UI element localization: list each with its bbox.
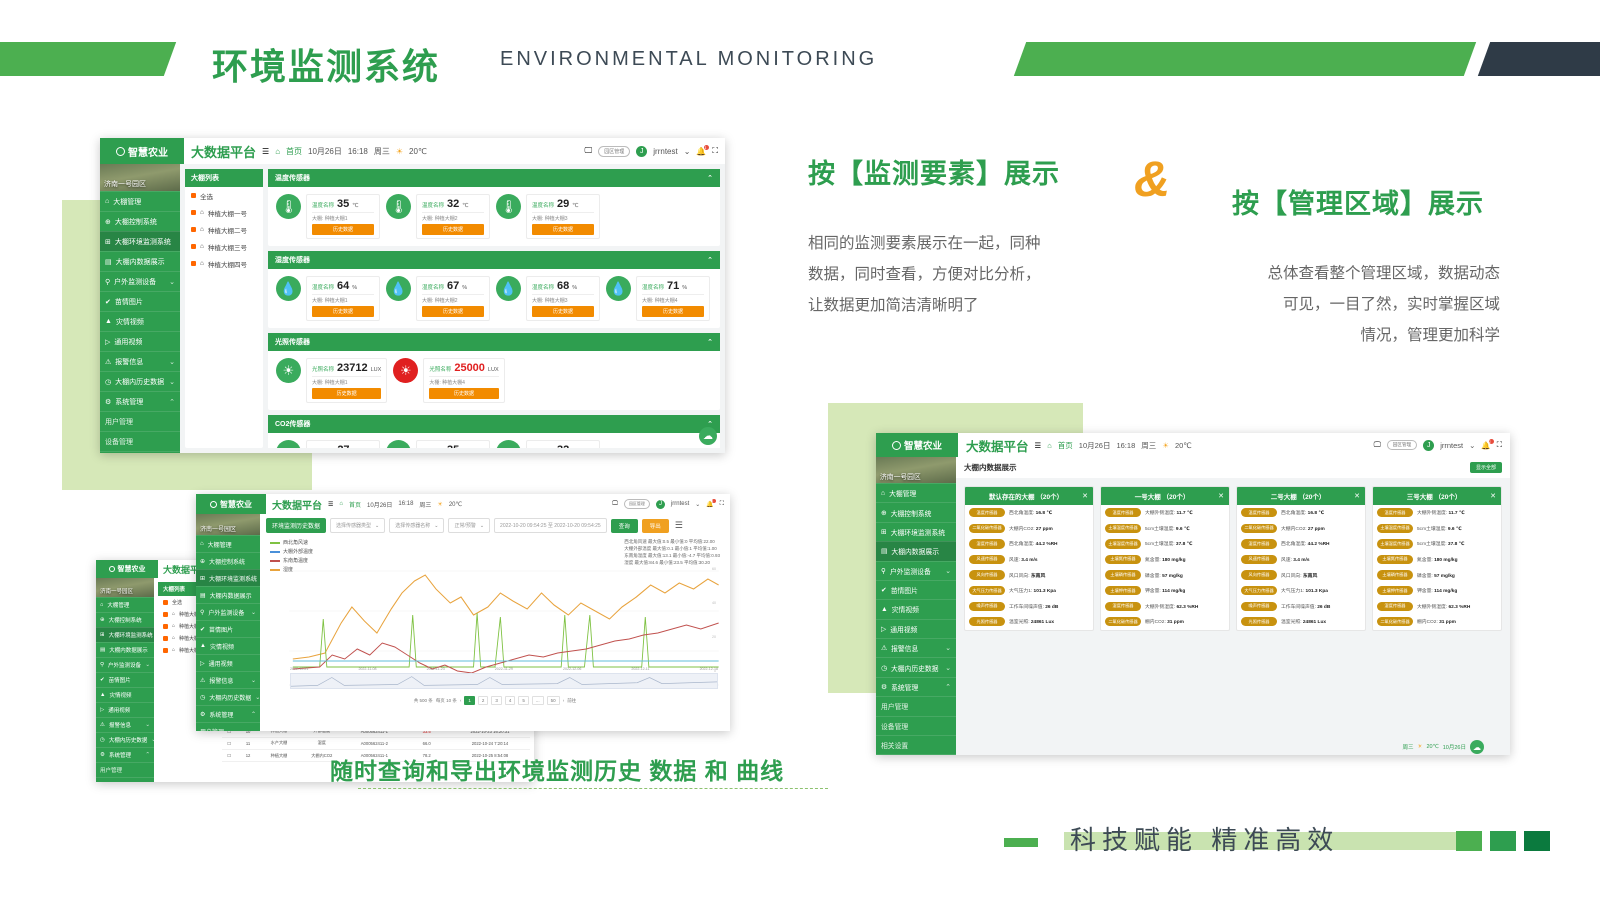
- zone-photo[interactable]: 济南一号园区: [100, 164, 180, 191]
- marketing-body-line: 数据，同时查看，方便对比分析，: [808, 259, 1138, 290]
- chevron-up-icon[interactable]: ⌃: [169, 398, 175, 406]
- monitor-icon[interactable]: 🖵: [1374, 440, 1381, 450]
- sidebar-item-10[interactable]: ⚙系统管理⌃: [100, 391, 180, 411]
- sensor-reading: 磷含量: 57 mg/kg: [1145, 572, 1183, 579]
- sensor-card[interactable]: 💧湿度名称67%大棚: 种植大棚2历史数据: [386, 276, 490, 321]
- fullscreen-icon[interactable]: ⛶: [1497, 440, 1502, 450]
- greenhouse-item[interactable]: ⌂种植大棚三号: [185, 238, 263, 255]
- sidebar-item-label: 大棚控制系统: [891, 508, 932, 518]
- chevron-down-icon[interactable]: ⌄: [945, 644, 951, 652]
- sensor-type-tag: 温度传感器: [1241, 508, 1277, 517]
- sidebar-item-14[interactable]: 系统日志: [876, 754, 956, 755]
- sensor-name: 湿度名称: [642, 283, 664, 291]
- sensor-type-tag: 土壤钾传感器: [1105, 586, 1141, 595]
- home-icon[interactable]: ⌂: [339, 501, 343, 507]
- sidebar-item-label: 设备管理: [100, 781, 122, 782]
- sensor-section: 光照传感器⌃☀光照名称23712LUX大棚: 种植大棚1历史数据☀光照名称250…: [268, 333, 720, 410]
- area-card-row: 二氧化碳传感器棚内CO2: 31 ppm: [1101, 614, 1229, 630]
- footer-square-2: [1490, 831, 1516, 851]
- history-data-button[interactable]: 历史数据: [312, 388, 381, 399]
- area-card-row: 二氧化碳传感器大棚内CO2: 27 ppm: [965, 521, 1093, 537]
- home-icon[interactable]: ⌂: [1047, 441, 1052, 450]
- sidebar-item-5[interactable]: ✔苗情图片: [196, 620, 260, 637]
- area-card-row: 温度传感器大棚外侧温度: 11.7 ℃: [1101, 505, 1229, 521]
- sensor-type-tag: 土壤湿度传感器: [1377, 539, 1413, 548]
- chart-brush[interactable]: [290, 673, 718, 689]
- sensor-type-tag: 光照传感器: [1241, 617, 1277, 626]
- sensor-card-info: 温度名称35℃大棚: 种植大棚1历史数据: [306, 194, 380, 239]
- sidebar-item-7[interactable]: ▷通用视频: [876, 619, 956, 638]
- house-icon: ⌂: [200, 226, 204, 233]
- pager-page[interactable]: 4: [505, 696, 516, 705]
- pager-page[interactable]: 1: [464, 696, 475, 705]
- control-icon: ⊕: [200, 558, 205, 565]
- sensor-card[interactable]: ◎浓度名称35ppm大棚: 种植大棚4历史数据: [386, 440, 490, 448]
- greenhouse-item[interactable]: ⌂种植大棚四号: [185, 255, 263, 272]
- sensor-card[interactable]: 🌡温度名称32℃大棚: 种植大棚2历史数据: [386, 194, 490, 239]
- monitor-icon[interactable]: 🖵: [612, 501, 618, 508]
- row-checkbox[interactable]: ☐: [222, 750, 236, 762]
- area-card-title: 三号大棚 （20个）: [1378, 491, 1490, 501]
- close-icon[interactable]: ✕: [1490, 492, 1496, 500]
- pager-next-icon[interactable]: ›: [563, 698, 565, 703]
- pager-page[interactable]: 50: [547, 696, 560, 705]
- y-tick-label: 40: [712, 601, 716, 605]
- cloud-fab-icon[interactable]: ☁: [1470, 740, 1484, 754]
- cloud-fab-icon[interactable]: ☁: [699, 427, 717, 445]
- brand-logo-block: 智慧农业: [100, 138, 184, 164]
- close-icon[interactable]: ✕: [1354, 492, 1360, 500]
- sensor-type-tag: 噪声传感器: [1241, 602, 1277, 611]
- fullscreen-icon[interactable]: ⛶: [720, 501, 724, 508]
- sidebar-item-2[interactable]: ⊞大棚环境监测系统: [196, 569, 260, 586]
- menu-toggle-icon[interactable]: ☰: [1035, 441, 1042, 450]
- fullscreen-icon[interactable]: ⛶: [712, 146, 718, 156]
- x-axis-ticks: 2022-10-212022-11-082022-11-232022-11-29…: [290, 667, 718, 671]
- sensor-name: 湿度名称: [312, 283, 334, 291]
- home-link[interactable]: 首页: [1058, 440, 1073, 451]
- sidebar-item-0[interactable]: ⌂大棚管理: [100, 191, 180, 211]
- chevron-down-icon[interactable]: ⌄: [169, 278, 175, 286]
- sidebar-item-9[interactable]: ◷大棚内历史数据⌄: [96, 732, 154, 747]
- history-data-button[interactable]: 历史数据: [422, 306, 484, 317]
- checkbox-icon[interactable]: [163, 600, 168, 605]
- chevron-down-icon[interactable]: ⌄: [169, 378, 175, 386]
- avatar[interactable]: J: [1423, 440, 1434, 451]
- query-toolbar: 环境监测历史数据 选择传感器类型⌄ 选择传感器名称⌄ 正常/预警⌄ 2022-1…: [266, 518, 724, 533]
- chart-stat-line: 湿度 最大值:84.6 最小值:23.5 平均值:30.20: [624, 560, 720, 567]
- sidebar-item-label: 系统管理: [109, 751, 131, 759]
- chevron-up-icon[interactable]: ⌃: [251, 711, 256, 718]
- sensor-card[interactable]: ☀光照名称23712LUX大棚: 种植大棚1历史数据: [276, 358, 387, 403]
- sensor-section-title: 湿度传感器: [275, 255, 310, 265]
- pager-page[interactable]: 5: [518, 696, 529, 705]
- sensor-source: 大棚: 种植大棚1: [312, 376, 381, 386]
- history-icon: ◷: [100, 737, 105, 743]
- username[interactable]: jrrntest: [1440, 441, 1463, 450]
- temperature: 20℃: [1175, 441, 1192, 450]
- chevron-up-icon[interactable]: ⌃: [707, 174, 713, 182]
- area-card-row: 土壤磷传感器磷含量: 57 mg/kg: [1373, 567, 1501, 583]
- sensor-card[interactable]: 💧湿度名称71%大棚: 种植大棚4历史数据: [606, 276, 710, 321]
- list-view-icon[interactable]: ☰: [675, 520, 683, 531]
- sidebar-item-6[interactable]: ▲灾情视频: [876, 599, 956, 618]
- sensor-name: 浓度名称: [532, 447, 554, 448]
- thermometer-icon: 🌡: [276, 194, 301, 219]
- sensor-value: 32: [447, 198, 459, 210]
- seedling-icon: ✔: [881, 586, 887, 594]
- marketing-title-left: 按【监测要素】展示: [808, 152, 1060, 191]
- bell-icon[interactable]: 🔔1: [696, 147, 706, 156]
- sensor-card[interactable]: 🌡温度名称35℃大棚: 种植大棚1历史数据: [276, 194, 380, 239]
- outdoor-icon: ⚲: [105, 278, 110, 286]
- greenhouse-item[interactable]: ⌂种植大棚一号: [185, 204, 263, 221]
- region-manage-button[interactable]: 园区管理: [624, 499, 650, 509]
- history-data-button[interactable]: 历史数据: [532, 224, 594, 235]
- legend-item[interactable]: 西北角风速: [270, 539, 313, 546]
- checkbox-icon[interactable]: [163, 624, 168, 629]
- sensor-reading: 大棚外侧湿度: 62.3 %RH: [1145, 603, 1198, 610]
- chevron-down-icon[interactable]: ⌄: [145, 662, 150, 668]
- data-icon: ▤: [105, 258, 112, 266]
- sensor-type-select[interactable]: 选择传感器类型⌄: [330, 518, 385, 533]
- sidebar-item-4[interactable]: ⚲户外监测设备⌄: [876, 561, 956, 580]
- sensor-value: 71: [667, 280, 679, 292]
- legend-item[interactable]: 湿度: [270, 566, 313, 573]
- sensor-reading: 风口风向: 东南风: [1281, 572, 1317, 579]
- gear-icon: ⚙: [200, 711, 205, 718]
- select-all-row[interactable]: 全选: [185, 187, 263, 204]
- humidity-icon: 💧: [386, 276, 411, 301]
- sidebar-item-label: 大棚环境监测系统: [891, 527, 945, 537]
- sensor-section-header[interactable]: CO2传感器⌃: [268, 415, 720, 433]
- brand-name: 智慧农业: [220, 499, 252, 510]
- username[interactable]: jrrntest: [671, 501, 689, 507]
- chevron-down-icon[interactable]: ⌄: [251, 677, 256, 684]
- sidebar-item-8[interactable]: ⚠报警信息⌄: [100, 351, 180, 371]
- sensor-card[interactable]: ◎CO2名称27ppm大棚: 种植大棚1历史数据: [276, 440, 380, 448]
- chevron-down-icon[interactable]: ⌄: [945, 567, 951, 575]
- sensor-section-header[interactable]: 光照传感器⌃: [268, 333, 720, 351]
- export-button[interactable]: 导出: [642, 519, 669, 533]
- chevron-down-icon[interactable]: ⌄: [251, 609, 256, 616]
- chevron-down-icon[interactable]: ⌄: [684, 147, 691, 156]
- sidebar-item-label: 系统管理: [209, 710, 233, 719]
- house-icon: ⌂: [200, 209, 204, 216]
- sidebar-item-8[interactable]: ⚠报警信息⌄: [196, 671, 260, 688]
- sidebar-item-12[interactable]: 设备管理: [876, 716, 956, 735]
- sidebar-item-4[interactable]: ⚲户外监测设备⌄: [196, 603, 260, 620]
- sensor-card-row: 🌡温度名称35℃大棚: 种植大棚1历史数据🌡温度名称32℃大棚: 种植大棚2历史…: [268, 187, 720, 246]
- sidebar-item-0[interactable]: ⌂大棚管理: [876, 483, 956, 502]
- status-select[interactable]: 正常/预警⌄: [448, 518, 490, 533]
- bell-icon[interactable]: 🔔1: [1481, 441, 1490, 450]
- sidebar-item-label: 报警信息: [115, 357, 143, 367]
- pager-prev-icon[interactable]: ‹: [460, 698, 462, 703]
- sensor-card-info: 湿度名称71%大棚: 种植大棚4历史数据: [636, 276, 710, 321]
- region-manage-button[interactable]: 园区管理: [1387, 440, 1417, 450]
- chevron-up-icon[interactable]: ⌃: [707, 256, 713, 264]
- sidebar-item-6[interactable]: ▲灾情视频: [196, 637, 260, 654]
- temperature: 20℃: [449, 501, 462, 508]
- home-link[interactable]: 首页: [286, 146, 302, 157]
- sidebar-item-9[interactable]: ◷大棚内历史数据⌄: [876, 657, 956, 676]
- data-icon: ▤: [881, 547, 887, 555]
- sidebar-item-3[interactable]: ▤大棚内数据展示: [100, 251, 180, 271]
- brand-name: 智慧农业: [128, 144, 168, 159]
- history-data-button[interactable]: 历史数据: [532, 306, 594, 317]
- video-icon: ▷: [105, 338, 110, 346]
- sensor-card[interactable]: 🌡温度名称29℃大棚: 种植大棚3历史数据: [496, 194, 600, 239]
- menu-toggle-icon[interactable]: ☰: [328, 501, 333, 508]
- close-icon[interactable]: ✕: [1082, 492, 1088, 500]
- monitor-icon[interactable]: 🖵: [585, 146, 593, 156]
- table-cell: A000562411-2: [345, 737, 403, 749]
- sidebar: 济南一号园区 ⌂大棚管理⊕大棚控制系统⊞大棚环境监测系统▤大棚内数据展示⚲户外监…: [196, 514, 260, 731]
- zone-photo[interactable]: 济南一号园区: [196, 514, 260, 535]
- sidebar-item-12[interactable]: 设备管理: [100, 431, 180, 451]
- table-row[interactable]: ☐11水产大棚湿度A000562411-266.02022-10-24 7:20…: [222, 737, 530, 749]
- page-header-title: 大棚内数据展示: [964, 462, 1017, 473]
- sensor-name-select[interactable]: 选择传感器名称⌄: [389, 518, 444, 533]
- area-card-title: 二号大棚 （20个）: [1242, 491, 1354, 501]
- ampersand-decoration: &: [1134, 150, 1170, 208]
- area-card-header: 一号大棚 （20个）✕: [1101, 487, 1229, 505]
- leaf-icon: [109, 566, 115, 572]
- weekday: 周三: [374, 146, 390, 157]
- sensor-card[interactable]: 💧湿度名称64%大棚: 种植大棚1历史数据: [276, 276, 380, 321]
- greenhouse-label: 种植大棚四号: [208, 259, 247, 269]
- sensor-card[interactable]: ◎浓度名称32ppm大棚: 种植大棚3历史数据: [496, 440, 600, 448]
- sidebar-item-11[interactable]: 用户管理: [876, 696, 956, 715]
- checkbox-icon[interactable]: [191, 261, 196, 266]
- sidebar-item-9[interactable]: ◷大棚内历史数据⌄: [100, 371, 180, 391]
- page-subtitle: ENVIRONMENTAL MONITORING: [500, 48, 877, 71]
- zone-photo[interactable]: 济南一号园区: [876, 457, 956, 483]
- menu-toggle-icon[interactable]: ☰: [262, 147, 269, 156]
- legend-item[interactable]: 东南角温度: [270, 557, 313, 564]
- history-data-button[interactable]: 历史数据: [422, 224, 484, 235]
- monitor-icon: ⊞: [200, 575, 205, 582]
- sensor-card-info: 湿度名称64%大棚: 种植大棚1历史数据: [306, 276, 380, 321]
- sidebar-item-1[interactable]: ⊕大棚控制系统: [876, 502, 956, 521]
- sun-icon: ☀: [393, 358, 418, 383]
- sensor-type-tag: 温度传感器: [1377, 508, 1413, 517]
- legend-swatch: [270, 560, 280, 562]
- sensor-reading: 5cm土壤温度: 9.6 ℃: [1417, 525, 1462, 532]
- checkbox-icon[interactable]: [163, 612, 168, 617]
- home-icon: ⌂: [200, 541, 204, 547]
- sidebar-item-label: 大棚内历史数据: [891, 663, 939, 673]
- chart-legend: 西北角风速大棚外部温度东南角温度湿度: [270, 539, 313, 575]
- sidebar-item-2[interactable]: ⊞大棚环境监测系统: [876, 522, 956, 541]
- brand-name: 智慧农业: [904, 438, 942, 452]
- marketing-title-right: 按【管理区域】展示: [1232, 182, 1484, 221]
- sidebar-item-1[interactable]: ⊕大棚控制系统: [196, 552, 260, 569]
- chevron-up-icon[interactable]: ⌃: [707, 338, 713, 346]
- sidebar-item-1[interactable]: ⊕大棚控制系统: [100, 211, 180, 231]
- sidebar-item-13[interactable]: 相关设置: [876, 735, 956, 754]
- greenhouse-item[interactable]: ⌂种植大棚二号: [185, 221, 263, 238]
- temperature: 20℃: [409, 147, 427, 156]
- sidebar-item-1[interactable]: ⊕大棚控制系统: [96, 612, 154, 627]
- query-button[interactable]: 查询: [611, 519, 638, 533]
- sidebar-item-11[interactable]: 用户管理: [196, 722, 260, 731]
- sensor-type-tag: 风速传感器: [1241, 555, 1277, 564]
- history-icon: ◷: [200, 694, 205, 701]
- show-all-button[interactable]: 显示全部: [1470, 462, 1502, 473]
- legend-label: 东南角温度: [283, 557, 308, 564]
- sensor-type-tag: 湿度传感器: [1105, 602, 1141, 611]
- sidebar-item-9[interactable]: ◷大棚内历史数据⌄: [196, 688, 260, 705]
- sidebar-item-6[interactable]: ▲灾情视频: [96, 687, 154, 702]
- footer-square-3: [1524, 831, 1550, 851]
- checkbox-icon[interactable]: [163, 636, 168, 641]
- checkbox-icon[interactable]: [191, 227, 196, 232]
- marketing-body-right: 总体查看整个管理区域，数据动态可见，一目了然，实时掌握区域情况，管理更加科学: [1180, 258, 1500, 351]
- sensor-value: 29: [557, 198, 569, 210]
- history-data-button[interactable]: 历史数据: [429, 388, 498, 399]
- video-icon: ▷: [100, 707, 104, 713]
- sensor-section-header[interactable]: 湿度传感器⌃: [268, 251, 720, 269]
- platform-title: 大数据平台: [272, 497, 322, 512]
- pager-page[interactable]: 3: [491, 696, 502, 705]
- avatar[interactable]: J: [636, 146, 647, 157]
- chevron-down-icon[interactable]: ⌄: [695, 501, 700, 508]
- sensor-reading: 大棚外侧温度: 11.7 ℃: [1145, 509, 1193, 516]
- sidebar-item-4[interactable]: ⚲户外监测设备⌄: [96, 657, 154, 672]
- sidebar-item-2[interactable]: ⊞大棚环境监测系统: [100, 231, 180, 251]
- seedling-icon: ✔: [105, 298, 111, 306]
- pager-page[interactable]: 2: [478, 696, 489, 705]
- sidebar-item-label: 通用视频: [209, 659, 233, 668]
- pager-per-page[interactable]: 每页 10 条: [436, 698, 457, 704]
- sidebar-item-0[interactable]: ⌂大棚管理: [196, 535, 260, 552]
- sidebar-item-10[interactable]: ⚙系统管理⌃: [196, 705, 260, 722]
- chart-stats: 西北角风速 最大值:0.5 最小值:0 平均值:22.00大棚外部温度 最大值:…: [624, 539, 720, 567]
- table-cell: 种植大棚: [260, 750, 299, 762]
- region-manage-button[interactable]: 园区管理: [598, 146, 630, 157]
- sidebar-item-5[interactable]: ✔苗情图片: [876, 580, 956, 599]
- avatar[interactable]: J: [656, 500, 665, 509]
- chevron-down-icon[interactable]: ⌄: [945, 664, 951, 672]
- chevron-down-icon[interactable]: ⌄: [145, 722, 150, 728]
- sidebar-item-5[interactable]: ✔苗情图片: [96, 672, 154, 687]
- sidebar-item-4[interactable]: ⚲户外监测设备⌄: [100, 271, 180, 291]
- sensor-type-tag: 土壤钾传感器: [1377, 586, 1413, 595]
- area-card-row: 土壤温度传感器5cm土壤温度: 9.6 ℃: [1101, 521, 1229, 537]
- sidebar-item-11[interactable]: 用户管理: [100, 411, 180, 431]
- checkbox-icon[interactable]: [163, 648, 168, 653]
- sidebar-item-0[interactable]: ⌂大棚管理: [96, 597, 154, 612]
- sensor-name: 光照名称: [429, 365, 451, 373]
- sensor-name: 光照名称: [312, 365, 334, 373]
- sidebar-item-10[interactable]: ⚙系统管理⌃: [876, 677, 956, 696]
- sidebar-item-13[interactable]: 相关设置: [100, 451, 180, 453]
- sensor-card-info: 湿度名称67%大棚: 种植大棚2历史数据: [416, 276, 490, 321]
- chevron-down-icon[interactable]: ⌄: [1469, 441, 1475, 450]
- sensor-name: 湿度名称: [532, 283, 554, 291]
- chevron-down-icon[interactable]: ⌄: [169, 358, 175, 366]
- sidebar-item-3[interactable]: ▤大棚内数据展示: [96, 642, 154, 657]
- chevron-up-icon[interactable]: ⌃: [145, 752, 150, 758]
- app-topbar: 智慧农业 大数据平台 ☰ ⌂ 首页 10月26日 16:18 周三 ☀ 20℃ …: [196, 494, 730, 514]
- legend-item[interactable]: 大棚外部温度: [270, 548, 313, 555]
- sensor-reading: 棚内CO2: 31 ppm: [1417, 618, 1456, 625]
- sidebar-item-3[interactable]: ▤大棚内数据展示: [876, 541, 956, 560]
- sidebar-item-6[interactable]: ▲灾情视频: [100, 311, 180, 331]
- checkbox-icon[interactable]: [191, 244, 196, 249]
- home-link[interactable]: 首页: [349, 500, 361, 509]
- sensor-card-info: 湿度名称68%大棚: 种植大棚3历史数据: [526, 276, 600, 321]
- sidebar-item-8[interactable]: ⚠报警信息⌄: [96, 717, 154, 732]
- sensor-card[interactable]: ☀光照名称25000LUX大棚: 种植大棚4历史数据: [393, 358, 504, 403]
- username[interactable]: jrrntest: [653, 147, 677, 156]
- chart-pager: 共 500 条每页 10 条‹12345...50›前往: [266, 696, 724, 705]
- sidebar-item-10[interactable]: ⚙系统管理⌃: [96, 747, 154, 762]
- chevron-up-icon[interactable]: ⌃: [945, 683, 951, 691]
- close-icon[interactable]: ✕: [1218, 492, 1224, 500]
- checkbox-icon[interactable]: [191, 193, 196, 198]
- sidebar-item-label: 大棚内数据展示: [210, 591, 252, 600]
- pager-page[interactable]: ...: [532, 696, 544, 705]
- sidebar-item-5[interactable]: ✔苗情图片: [100, 291, 180, 311]
- bell-badge: 1: [704, 145, 709, 150]
- table-cell: 水产大棚: [260, 737, 299, 749]
- bell-icon[interactable]: 🔔1: [706, 501, 713, 508]
- sidebar-item-7[interactable]: ▷通用视频: [196, 654, 260, 671]
- alarm-icon: ⚠: [105, 358, 111, 366]
- sidebar-item-label: 大棚内数据展示: [891, 546, 939, 556]
- sidebar-item-7[interactable]: ▷通用视频: [96, 702, 154, 717]
- sidebar-item-12[interactable]: 设备管理: [96, 777, 154, 782]
- sensor-type-tag: 光照传感器: [969, 617, 1005, 626]
- marketing-body-line: 总体查看整个管理区域，数据动态: [1180, 258, 1500, 289]
- sidebar-item-2[interactable]: ⊞大棚环境监测系统: [96, 627, 154, 642]
- dashboard-by-element: 智慧农业 大数据平台 ☰ ⌂ 首页 10月26日 16:18 周三 ☀ 20℃ …: [100, 138, 725, 453]
- sidebar-items: ⌂大棚管理⊕大棚控制系统⊞大棚环境监测系统▤大棚内数据展示⚲户外监测设备⌄✔苗情…: [876, 483, 956, 755]
- house-icon: ⌂: [172, 623, 175, 629]
- history-data-button[interactable]: 历史数据: [312, 306, 374, 317]
- row-checkbox[interactable]: ☐: [222, 737, 236, 749]
- app1-main: 大棚列表 全选 ⌂种植大棚一号⌂种植大棚二号⌂种植大棚三号⌂种植大棚四号 温度传…: [180, 164, 725, 453]
- zone-photo[interactable]: 济南一号园区: [96, 578, 154, 597]
- sensor-source: 大棚: 种植大棚4: [642, 294, 704, 304]
- sidebar-item-3[interactable]: ▤大棚内数据展示: [196, 586, 260, 603]
- home-icon[interactable]: ⌂: [275, 147, 280, 156]
- pager-jump[interactable]: 前往: [567, 698, 576, 704]
- sidebar-item-11[interactable]: 用户管理: [96, 762, 154, 777]
- history-data-button[interactable]: 历史数据: [642, 306, 704, 317]
- sidebar-item-label: 苗情图片: [891, 585, 918, 595]
- sensor-type-tag: 土壤磷传感器: [1377, 570, 1413, 579]
- outdoor-icon: ⚲: [100, 662, 104, 668]
- brand-logo-block: 智慧农业: [196, 494, 266, 514]
- sensor-card[interactable]: 💧湿度名称68%大棚: 种植大棚3历史数据: [496, 276, 600, 321]
- co2-icon: ◎: [386, 440, 411, 448]
- sidebar-item-7[interactable]: ▷通用视频: [100, 331, 180, 351]
- date-range-input[interactable]: 2022-10-20 09:54:25 至 2022-10-20 09:54:2…: [494, 518, 607, 533]
- sensor-unit: ℃: [352, 203, 358, 209]
- sensor-value: 67: [447, 280, 459, 292]
- area-card-row: 温度传感器大棚外侧温度: 11.7 ℃: [1373, 505, 1501, 521]
- sidebar-item-8[interactable]: ⚠报警信息⌄: [876, 638, 956, 657]
- checkbox-icon[interactable]: [191, 210, 196, 215]
- history-data-button[interactable]: 历史数据: [312, 224, 374, 235]
- footer-dash: [1004, 838, 1038, 847]
- sensor-section-header[interactable]: 温度传感器⌃: [268, 169, 720, 187]
- dashboard-by-area: 智慧农业 大数据平台 ☰ ⌂ 首页 10月26日 16:18 周三 ☀ 20℃ …: [876, 433, 1510, 755]
